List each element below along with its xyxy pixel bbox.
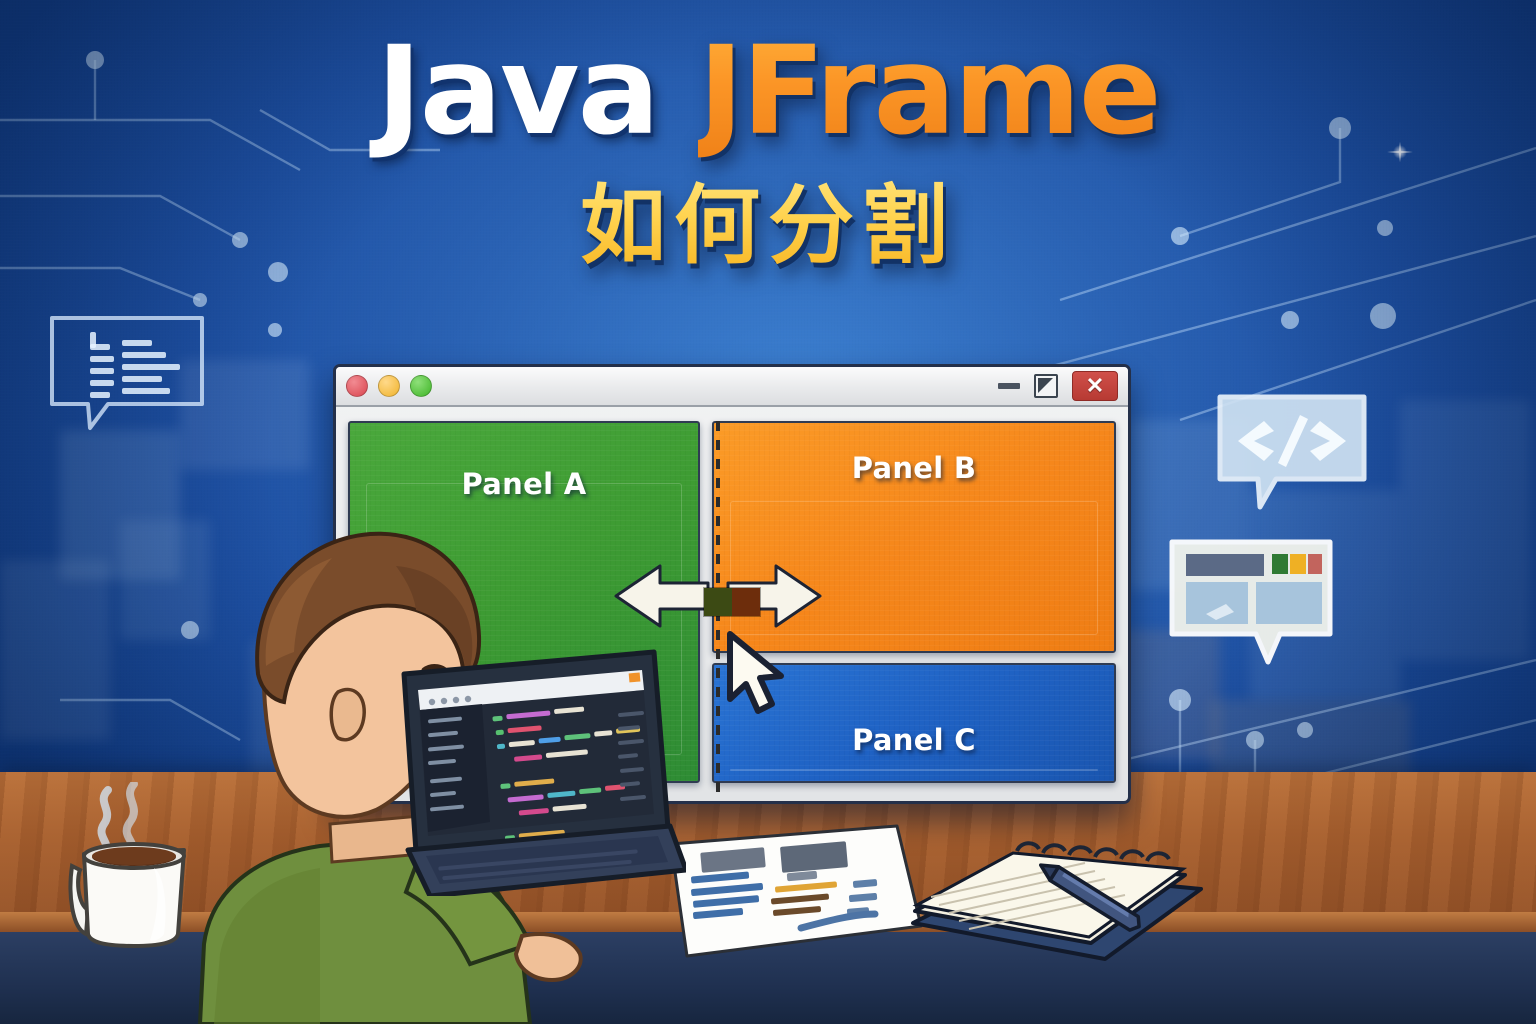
page-subtitle: 如何分割 (0, 155, 1536, 280)
minimize-icon[interactable] (998, 383, 1020, 389)
panel-c-label: Panel C (714, 723, 1114, 757)
zoom-light-icon[interactable] (410, 375, 432, 397)
panel-b-label: Panel B (714, 451, 1114, 485)
mouse-pointer-icon (726, 631, 788, 719)
panel-a-label: Panel A (350, 467, 698, 501)
laptop (386, 646, 686, 896)
maximize-icon[interactable] (1034, 374, 1058, 398)
split-resize-grip[interactable] (703, 587, 761, 617)
title-block: Java JFrame 如何分割 (0, 34, 1536, 280)
window-titlebar[interactable]: ✕ (336, 367, 1128, 407)
poster-canvas: Java JFrame 如何分割 ✕ (0, 0, 1536, 1024)
close-light-icon[interactable] (346, 375, 368, 397)
grip-right-half (732, 588, 760, 616)
minimize-light-icon[interactable] (378, 375, 400, 397)
title-java: Java (376, 20, 698, 162)
code-lines-icon (46, 312, 208, 432)
page-title: Java JFrame (0, 34, 1536, 149)
spiral-notebook (905, 819, 1205, 969)
coffee-mug (52, 782, 212, 952)
title-jframe: JFrame (698, 20, 1159, 162)
code-tag-bubble-icon (1216, 393, 1368, 511)
layout-wireframe-bubble-icon (1168, 538, 1334, 666)
grip-left-half (704, 588, 732, 616)
close-button[interactable]: ✕ (1072, 371, 1118, 401)
traffic-lights[interactable] (346, 375, 432, 397)
panel-c-inner-border (730, 769, 1098, 771)
window-controls[interactable]: ✕ (998, 371, 1118, 401)
